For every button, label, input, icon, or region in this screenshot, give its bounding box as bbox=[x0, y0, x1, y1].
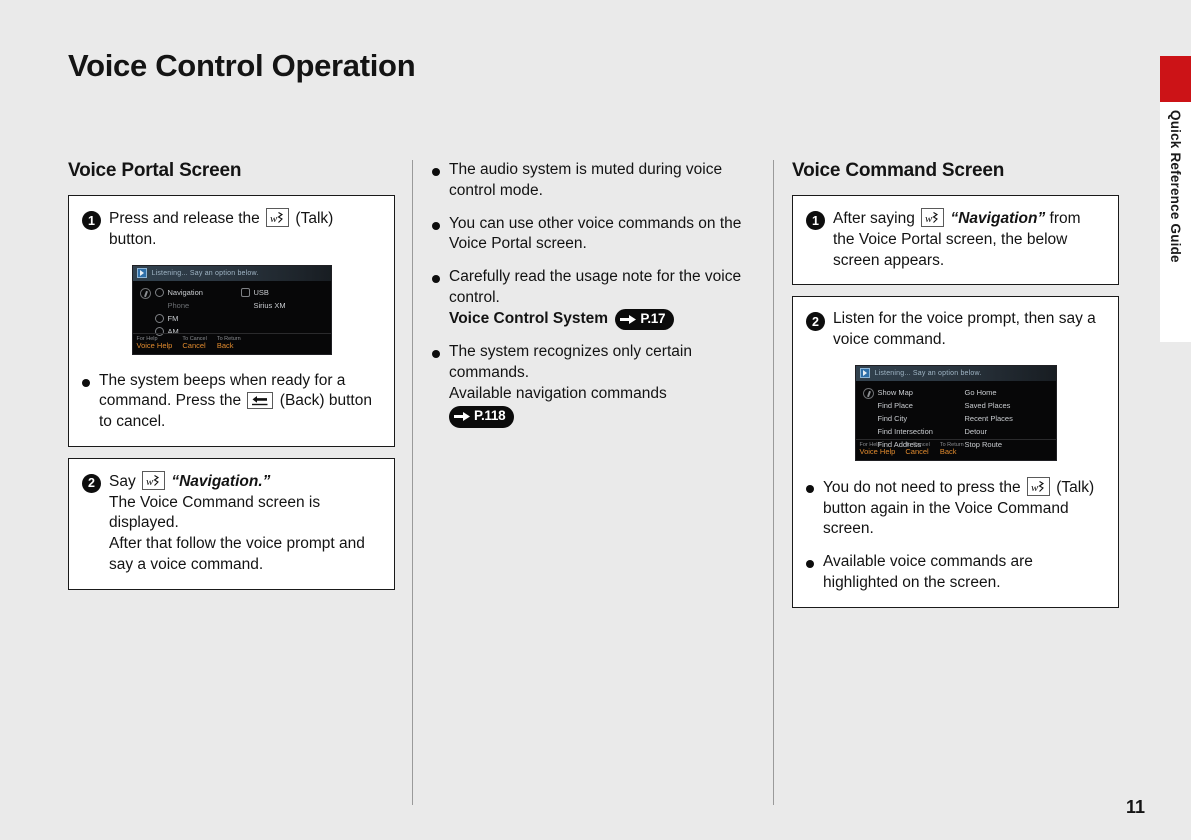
screen-option-item[interactable]: Find City bbox=[878, 412, 965, 425]
command-note-before: You do not need to press the bbox=[823, 479, 1021, 496]
step-number-badge: 1 bbox=[82, 211, 101, 230]
screen-option-item[interactable]: Navigation bbox=[155, 286, 241, 299]
section-heading-voice-command: Voice Command Screen bbox=[792, 160, 1119, 182]
voice-portal-screen-image: Listening... Say an option below. Naviga… bbox=[132, 265, 332, 355]
screen-status-text: Listening... Say an option below. bbox=[875, 370, 982, 377]
page-reference-badge[interactable]: P.118 bbox=[449, 406, 514, 427]
command-note-text: You do not need to press the w (Talk) bu… bbox=[823, 477, 1105, 540]
command-note-text: Available voice commands are highlighted… bbox=[823, 552, 1105, 594]
reference-label: Voice Control System bbox=[449, 310, 608, 327]
command-step-1-text: After saying w “Navigation” from the Voi… bbox=[833, 208, 1105, 271]
column-voice-command: Voice Command Screen 1 After saying w “N… bbox=[792, 160, 1119, 619]
command-step-box-1: 1 After saying w “Navigation” from the V… bbox=[792, 195, 1119, 285]
screen-bottom-bar: For Help Voice Help To Cancel Cancel To … bbox=[856, 439, 1056, 460]
screen-option-label: Saved Places bbox=[965, 401, 1011, 410]
screen-option-label: Detour bbox=[965, 427, 988, 436]
usb-icon bbox=[241, 288, 250, 297]
navigation-app-icon bbox=[860, 368, 870, 378]
screen-option-item[interactable]: Show Map bbox=[878, 386, 965, 399]
command-step-1-before: After saying bbox=[833, 210, 915, 227]
talk-icon: w bbox=[266, 208, 289, 227]
note-subtext: Available navigation commands bbox=[449, 384, 762, 405]
note-bullet-usage-note: Carefully read the usage note for the vo… bbox=[432, 267, 762, 330]
page-title: Voice Control Operation bbox=[68, 48, 415, 84]
screen-option-item[interactable]: USB bbox=[241, 286, 327, 299]
step-2-text-before: Say bbox=[109, 473, 136, 490]
note-bullet-text: You can use other voice commands on the … bbox=[449, 214, 762, 256]
note-bullet-other-commands: You can use other voice commands on the … bbox=[432, 214, 762, 256]
side-tab: Quick Reference Guide bbox=[1160, 56, 1191, 342]
voice-command-screen-image: Listening... Say an option below. Show M… bbox=[855, 365, 1057, 461]
command-step-1: 1 After saying w “Navigation” from the V… bbox=[806, 208, 1105, 271]
screen-option-item[interactable]: Saved Places bbox=[965, 399, 1052, 412]
screen-button-label: Voice Help bbox=[137, 342, 173, 351]
screen-option-label: Find Place bbox=[878, 401, 913, 410]
reference-line: P.118 bbox=[449, 404, 762, 427]
bullet-dot bbox=[432, 275, 440, 283]
bullet-dot bbox=[432, 222, 440, 230]
screen-option-label: Navigation bbox=[168, 288, 203, 297]
screen-left-rail bbox=[137, 286, 155, 338]
screen-button-cancel[interactable]: To Cancel Cancel bbox=[182, 336, 206, 354]
side-tab-body: Quick Reference Guide bbox=[1160, 102, 1191, 342]
column-voice-portal: Voice Portal Screen 1 Press and release … bbox=[68, 160, 395, 601]
screen-options-right: USB Sirius XM bbox=[241, 286, 327, 338]
screen-option-item[interactable]: Sirius XM bbox=[241, 299, 327, 312]
screen-option-item[interactable]: Phone bbox=[155, 299, 241, 312]
step-1-text-before: Press and release the bbox=[109, 210, 260, 227]
screen-button-voice-help[interactable]: For Help Voice Help bbox=[860, 442, 896, 460]
side-tab-label: Quick Reference Guide bbox=[1168, 102, 1183, 263]
screen-option-columns: Navigation Phone FM AM USB Sirius XM bbox=[155, 286, 327, 338]
page-number: 11 bbox=[1126, 797, 1145, 818]
svg-text:w: w bbox=[146, 476, 154, 488]
command-step-1-quoted: “Navigation” bbox=[950, 210, 1045, 227]
column-divider-1 bbox=[412, 160, 413, 805]
screen-body: Navigation Phone FM AM USB Sirius XM bbox=[133, 281, 331, 338]
phone-icon bbox=[155, 301, 164, 310]
step-1-text: Press and release the w (Talk) button. bbox=[109, 208, 381, 251]
talk-icon: w bbox=[142, 471, 165, 490]
svg-text:w: w bbox=[925, 213, 933, 225]
note-bullet-beeps: The system beeps when ready for a comman… bbox=[82, 371, 381, 433]
screen-option-label: FM bbox=[168, 314, 179, 323]
screen-option-label: Go Home bbox=[965, 388, 997, 397]
navigation-app-icon bbox=[137, 268, 147, 278]
talk-icon: w bbox=[1027, 477, 1050, 496]
command-step-2-text: Listen for the voice prompt, then say a … bbox=[833, 309, 1105, 351]
screen-button-label: Back bbox=[217, 342, 241, 351]
screen-option-label: Sirius XM bbox=[254, 301, 286, 310]
talk-icon: w bbox=[921, 208, 944, 227]
note-bullet-text: Carefully read the usage note for the vo… bbox=[449, 267, 762, 330]
note-bullet-text: The system recognizes only certain comma… bbox=[449, 342, 762, 427]
step-number-badge: 1 bbox=[806, 211, 825, 230]
note-bullet-certain-commands: The system recognizes only certain comma… bbox=[432, 342, 762, 427]
section-heading-voice-portal: Voice Portal Screen bbox=[68, 160, 395, 182]
note-text: The system recognizes only certain comma… bbox=[449, 343, 692, 381]
page-reference-text: P.118 bbox=[474, 407, 505, 425]
screen-button-voice-help[interactable]: For Help Voice Help bbox=[137, 336, 173, 354]
compass-icon bbox=[863, 388, 874, 399]
bullet-dot bbox=[806, 560, 814, 568]
arrow-right-icon bbox=[454, 411, 471, 422]
svg-text:w: w bbox=[270, 213, 278, 225]
note-bullet-text: The audio system is muted during voice c… bbox=[449, 160, 762, 202]
step-2-line2: The Voice Command screen is displayed. bbox=[109, 493, 381, 535]
screen-option-item[interactable]: Find Intersection bbox=[878, 425, 965, 438]
screen-button-cancel[interactable]: To Cancel Cancel bbox=[905, 442, 929, 460]
screen-status-text: Listening... Say an option below. bbox=[152, 270, 259, 277]
satellite-radio-icon bbox=[241, 301, 250, 310]
screen-option-item[interactable]: FM bbox=[155, 312, 241, 325]
arrow-right-icon bbox=[620, 314, 637, 325]
screen-button-label: Cancel bbox=[905, 448, 929, 457]
manual-page: Voice Control Operation Quick Reference … bbox=[0, 0, 1191, 840]
screen-option-label: Recent Places bbox=[965, 414, 1013, 423]
screen-button-label: Back bbox=[940, 448, 964, 457]
column-notes: The audio system is muted during voice c… bbox=[432, 160, 762, 428]
step-2-quoted: “Navigation.” bbox=[171, 473, 270, 490]
screen-bottom-bar: For Help Voice Help To Cancel Cancel To … bbox=[133, 333, 331, 354]
screen-option-label: Find Intersection bbox=[878, 427, 933, 436]
screen-option-item[interactable]: Recent Places bbox=[965, 412, 1052, 425]
note-bullet-text: The system beeps when ready for a comman… bbox=[99, 371, 381, 433]
screen-option-label: Show Map bbox=[878, 388, 913, 397]
step-box-2: 2 Say w “Navigation.” The Voice Command … bbox=[68, 458, 395, 590]
screen-status-bar: Listening... Say an option below. bbox=[133, 266, 331, 281]
screen-button-back[interactable]: To Return Back bbox=[940, 442, 964, 460]
step-box-1: 1 Press and release the w (Talk) button.… bbox=[68, 195, 395, 447]
screen-button-back[interactable]: To Return Back bbox=[217, 336, 241, 354]
column-divider-2 bbox=[773, 160, 774, 805]
step-2: 2 Say w “Navigation.” The Voice Command … bbox=[82, 471, 381, 576]
screen-button-label: Voice Help bbox=[860, 448, 896, 457]
screen-option-label: USB bbox=[254, 288, 269, 297]
bullet-dot bbox=[82, 379, 90, 387]
screen-option-label: Find City bbox=[878, 414, 908, 423]
step-1: 1 Press and release the w (Talk) button. bbox=[82, 208, 381, 251]
navigation-icon bbox=[155, 288, 164, 297]
note-bullet-muted: The audio system is muted during voice c… bbox=[432, 160, 762, 202]
side-tab-accent-block bbox=[1160, 56, 1191, 102]
reference-line: Voice Control System P.17 bbox=[449, 309, 762, 331]
note-text: Carefully read the usage note for the vo… bbox=[449, 268, 741, 306]
screen-option-item[interactable]: Go Home bbox=[965, 386, 1052, 399]
command-note-no-talk: You do not need to press the w (Talk) bu… bbox=[806, 477, 1105, 540]
screen-options-left: Navigation Phone FM AM bbox=[155, 286, 241, 338]
command-step-2: 2 Listen for the voice prompt, then say … bbox=[806, 309, 1105, 351]
screen-option-item[interactable]: Find Place bbox=[878, 399, 965, 412]
step-number-badge: 2 bbox=[806, 312, 825, 331]
step-2-text: Say w “Navigation.” The Voice Command sc… bbox=[109, 471, 381, 576]
bullet-dot bbox=[806, 485, 814, 493]
command-note-highlighted: Available voice commands are highlighted… bbox=[806, 552, 1105, 594]
screen-option-label: Phone bbox=[168, 301, 190, 310]
page-reference-badge[interactable]: P.17 bbox=[615, 309, 674, 330]
step-number-badge: 2 bbox=[82, 474, 101, 493]
step-2-line3: After that follow the voice prompt and s… bbox=[109, 534, 381, 576]
radio-fm-icon bbox=[155, 314, 164, 323]
page-reference-text: P.17 bbox=[640, 310, 665, 328]
svg-text:w: w bbox=[1031, 482, 1039, 494]
command-step-box-2: 2 Listen for the voice prompt, then say … bbox=[792, 296, 1119, 607]
compass-icon bbox=[140, 288, 151, 299]
bullet-dot bbox=[432, 350, 440, 358]
screen-button-label: Cancel bbox=[182, 342, 206, 351]
back-icon bbox=[247, 392, 273, 409]
screen-option-item[interactable]: Detour bbox=[965, 425, 1052, 438]
screen-status-bar: Listening... Say an option below. bbox=[856, 366, 1056, 381]
bullet-dot bbox=[432, 168, 440, 176]
